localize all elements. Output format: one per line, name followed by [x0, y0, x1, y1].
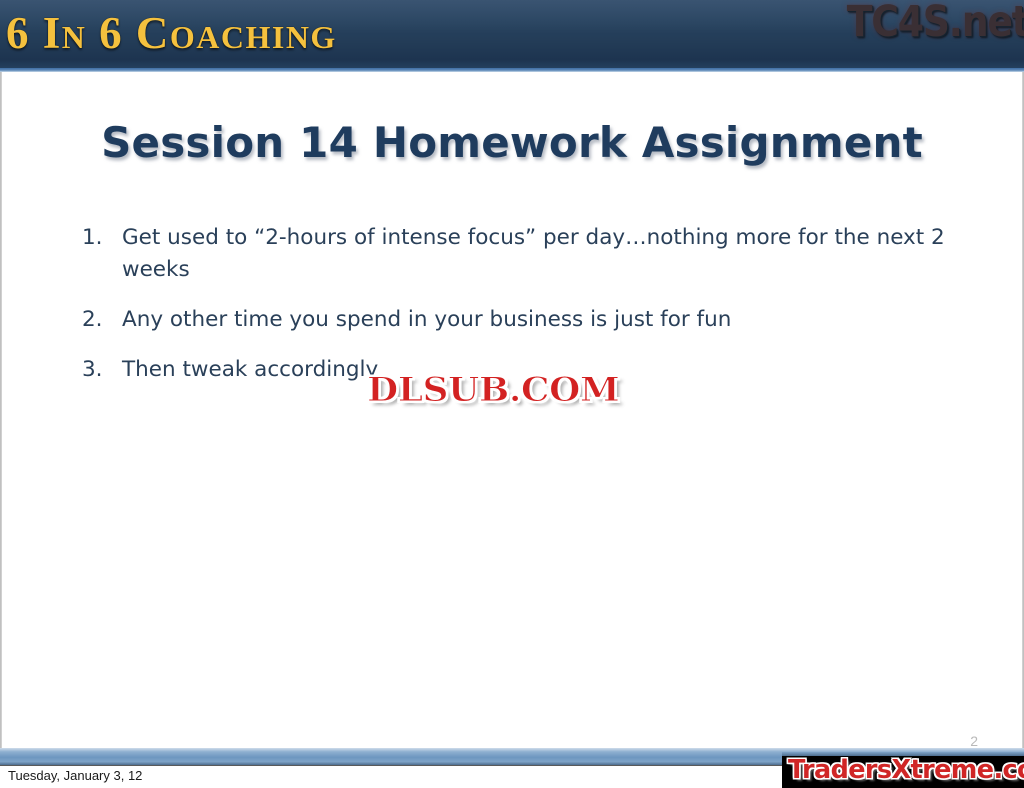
tradersxtreme-logo: TradersXtreme.com [782, 752, 1024, 788]
header-divider-rule [0, 68, 1024, 72]
list-item: 2. Any other time you spend in your busi… [78, 304, 978, 336]
list-item-number: 1. [82, 222, 110, 254]
tradersxtreme-logo-text: TradersXtreme.com [788, 755, 1024, 785]
page-number: 2 [970, 733, 978, 749]
list-item-text: Get used to “2-hours of intense focus” p… [122, 225, 945, 282]
slide-title: Session 14 Homework Assignment [0, 118, 1024, 167]
list-item: 1. Get used to “2-hours of intense focus… [78, 222, 1012, 286]
slide-left-border [0, 72, 2, 748]
slide-header: 6 In 6 Coaching TC4S.net [0, 0, 1024, 68]
list-item-number: 3. [82, 354, 110, 386]
list-item-number: 2. [82, 304, 110, 336]
tc4s-site-logo: TC4S.net [846, 0, 1024, 47]
header-brand-title: 6 In 6 Coaching [6, 7, 337, 59]
dlsub-watermark: DLSUB.COM [367, 370, 619, 410]
footer-date: Tuesday, January 3, 12 [8, 768, 142, 783]
list-item-text: Any other time you spend in your busines… [122, 307, 731, 332]
presentation-slide: 6 In 6 Coaching TC4S.net Session 14 Home… [0, 0, 1024, 788]
list-item-text: Then tweak accordingly [122, 357, 378, 382]
